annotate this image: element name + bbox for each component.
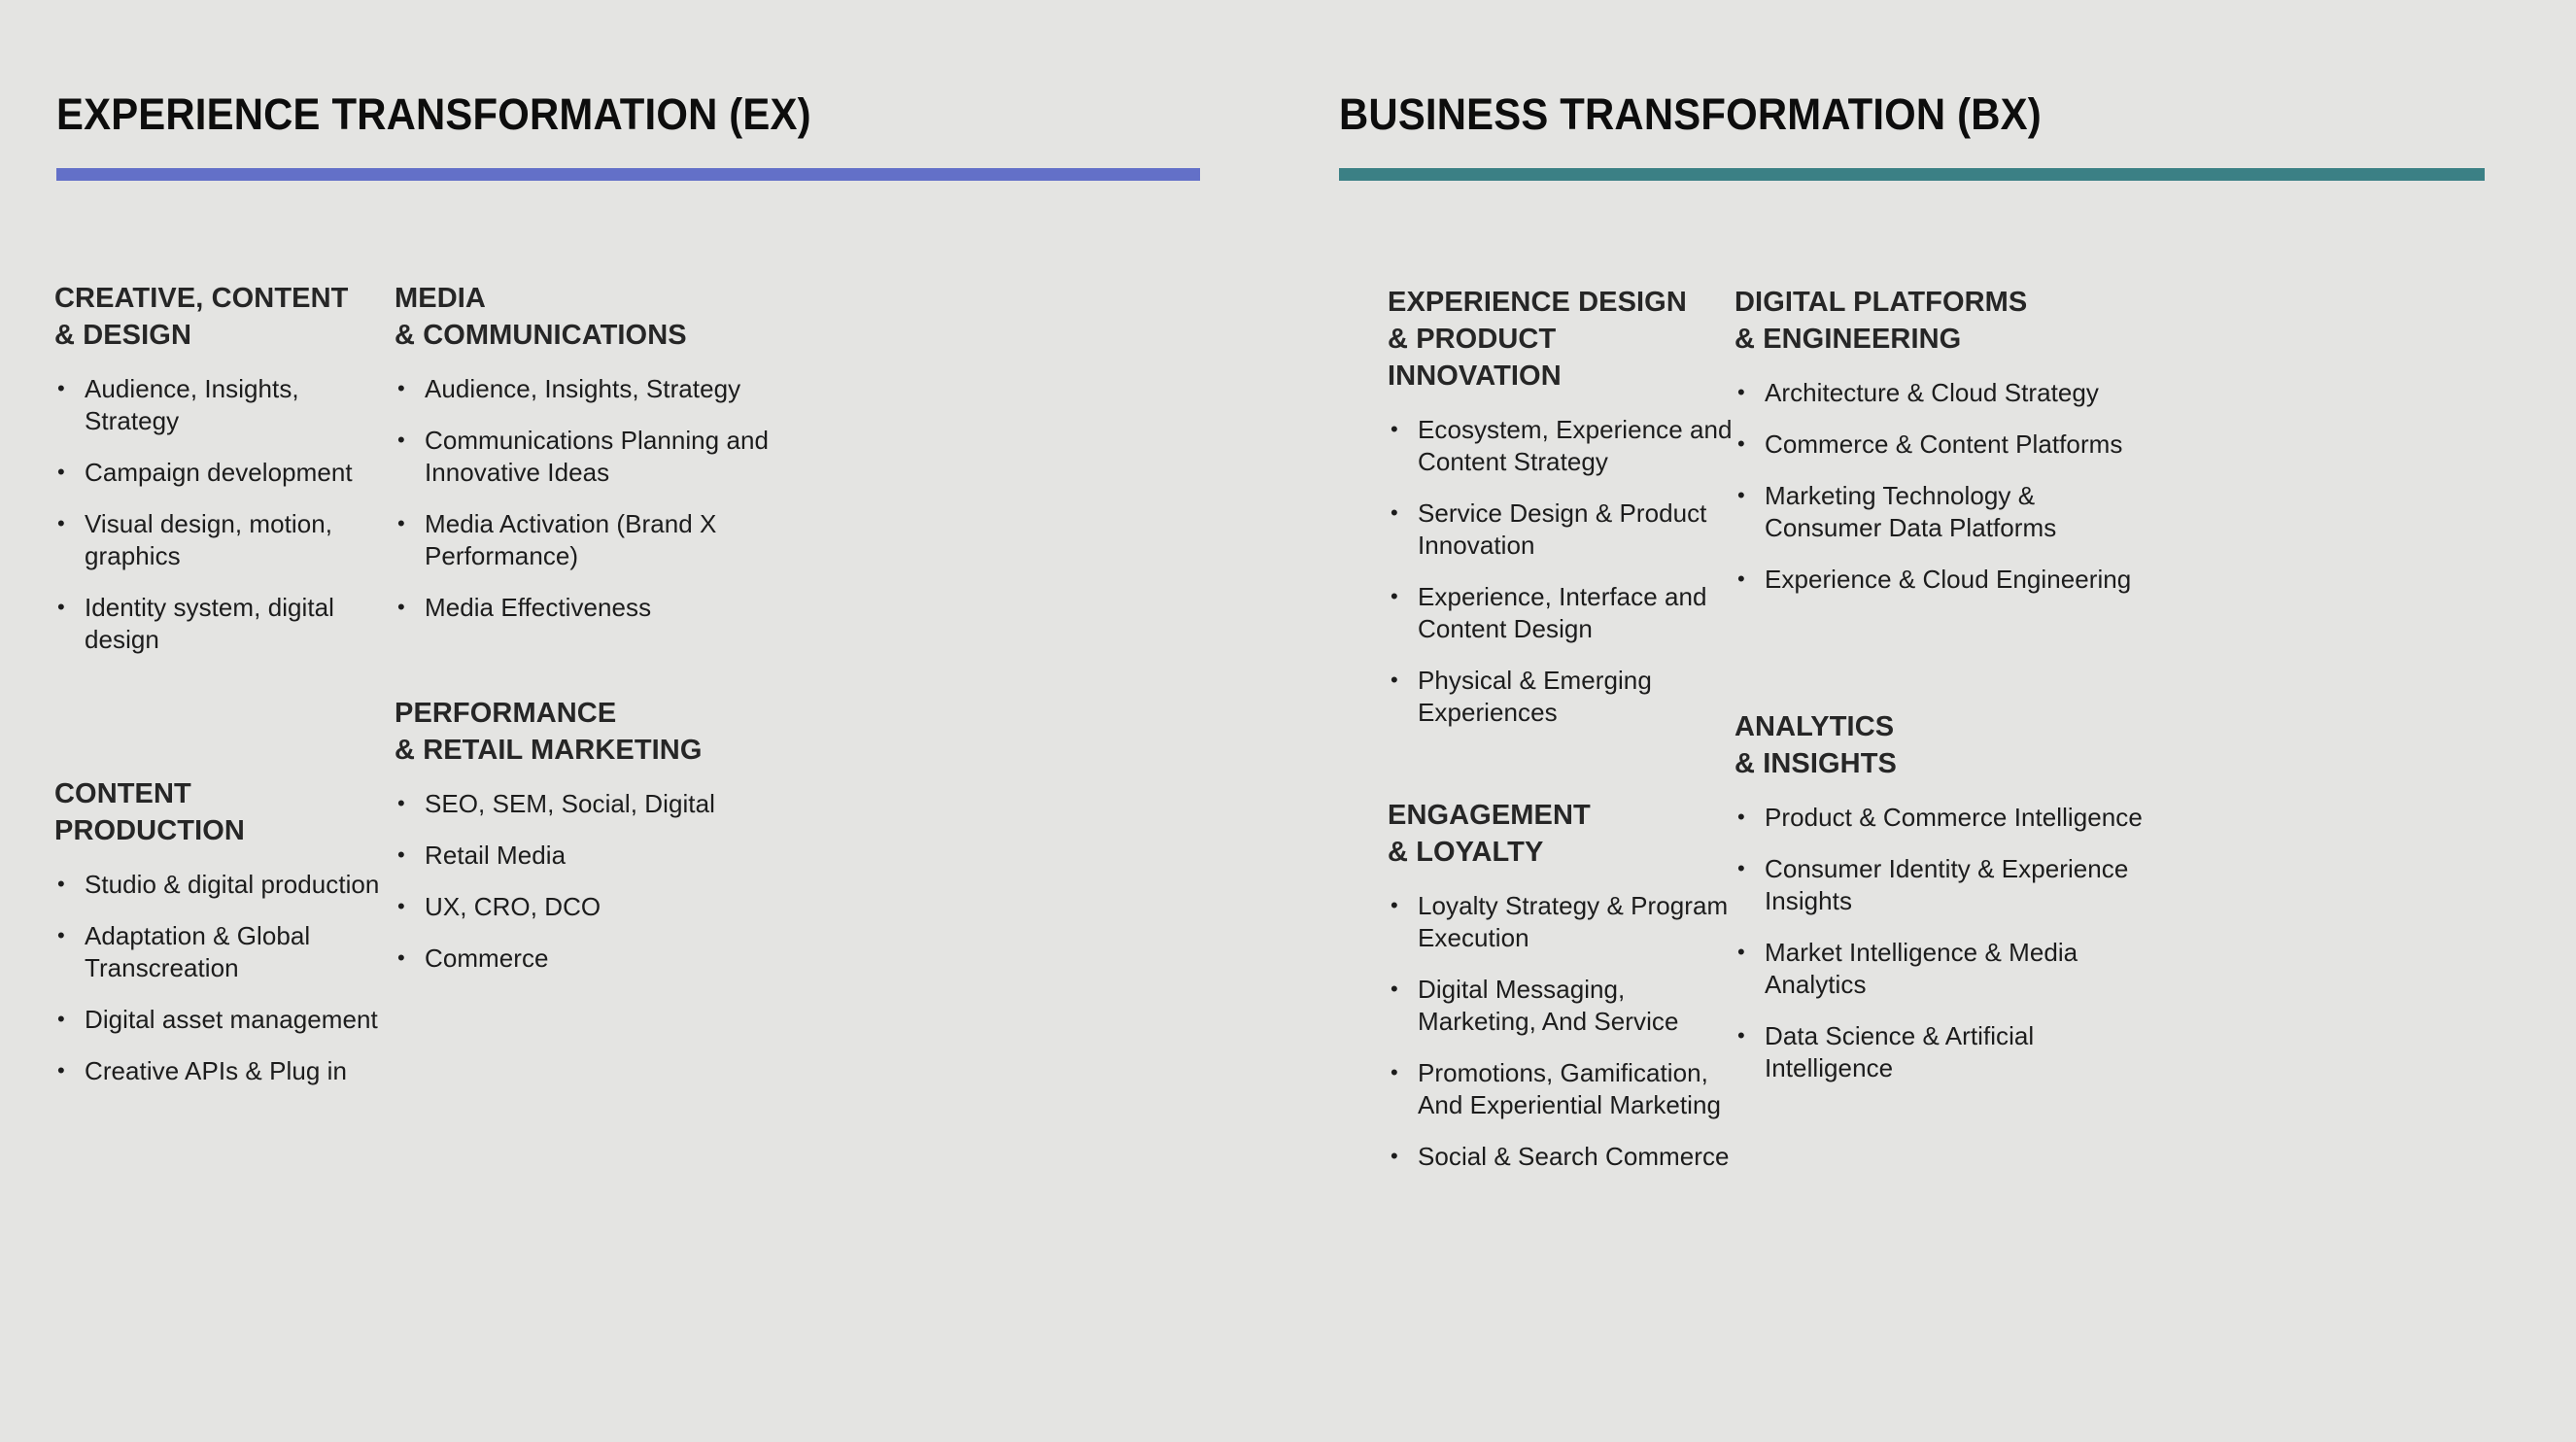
list-item: Architecture & Cloud Strategy [1735, 377, 2143, 409]
card-title-experience-design-product-innovation: EXPERIENCE DESIGN & PRODUCT INNOVATION [1388, 284, 1735, 395]
bullet-list-analytics-insights: Product & Commerce Intelligence Consumer… [1735, 802, 2143, 1084]
section-header-ex: EXPERIENCE TRANSFORMATION (EX) [56, 89, 1200, 181]
section-title-bx: BUSINESS TRANSFORMATION (BX) [1339, 89, 2404, 140]
list-item: Creative APIs & Plug in [54, 1055, 395, 1087]
list-item: Media Effectiveness [395, 592, 803, 624]
columns-bx: EXPERIENCE DESIGN & PRODUCT INNOVATION E… [1388, 284, 2486, 1192]
section-header-bx: BUSINESS TRANSFORMATION (BX) [1339, 89, 2485, 181]
list-item: Audience, Insights, Strategy [54, 373, 395, 437]
card-title-digital-platforms-engineering: DIGITAL PLATFORMS & ENGINEERING [1735, 284, 2143, 358]
list-item: Loyalty Strategy & Program Execution [1388, 890, 1735, 954]
bullet-list-experience-design-product-innovation: Ecosystem, Experience and Content Strate… [1388, 414, 1735, 729]
list-item: Experience & Cloud Engineering [1735, 564, 2143, 596]
list-item: Commerce [395, 943, 803, 975]
list-item: Studio & digital production [54, 869, 395, 901]
section-business-transformation: BUSINESS TRANSFORMATION (BX) EXPERIENCE … [1283, 0, 2576, 1442]
list-item: UX, CRO, DCO [395, 891, 803, 923]
accent-bar-ex [56, 168, 1200, 181]
list-item: SEO, SEM, Social, Digital [395, 788, 803, 820]
card-engagement-loyalty: ENGAGEMENT & LOYALTY Loyalty Strategy & … [1388, 797, 1735, 1173]
list-item: Digital Messaging, Marketing, And Servic… [1388, 974, 1735, 1038]
bullet-list-performance-retail-marketing: SEO, SEM, Social, Digital Retail Media U… [395, 788, 803, 975]
list-item: Audience, Insights, Strategy [395, 373, 803, 405]
spacer [54, 675, 395, 775]
card-media-communications: MEDIA & COMMUNICATIONS Audience, Insight… [395, 280, 803, 624]
column-ex-media: MEDIA & COMMUNICATIONS Audience, Insight… [395, 280, 803, 1107]
capability-matrix-canvas: EXPERIENCE TRANSFORMATION (EX) CREATIVE,… [0, 0, 2576, 1442]
column-ex-creative: CREATIVE, CONTENT & DESIGN Audience, Ins… [54, 280, 395, 1107]
section-title-ex: EXPERIENCE TRANSFORMATION (EX) [56, 89, 1120, 140]
bullet-list-creative-content-design: Audience, Insights, Strategy Campaign de… [54, 373, 395, 656]
list-item: Visual design, motion, graphics [54, 508, 395, 572]
list-item: Retail Media [395, 840, 803, 872]
list-item: Promotions, Gamification, And Experienti… [1388, 1057, 1735, 1121]
list-item: Service Design & Product Innovation [1388, 498, 1735, 562]
card-experience-design-product-innovation: EXPERIENCE DESIGN & PRODUCT INNOVATION E… [1388, 284, 1735, 729]
card-performance-retail-marketing: PERFORMANCE & RETAIL MARKETING SEO, SEM,… [395, 695, 803, 975]
card-title-media-communications: MEDIA & COMMUNICATIONS [395, 280, 803, 354]
column-bx-experience-design: EXPERIENCE DESIGN & PRODUCT INNOVATION E… [1388, 284, 1735, 1192]
list-item: Marketing Technology & Consumer Data Pla… [1735, 480, 2143, 544]
spacer [395, 643, 803, 695]
list-item: Identity system, digital design [54, 592, 395, 656]
list-item: Ecosystem, Experience and Content Strate… [1388, 414, 1735, 478]
columns-ex: CREATIVE, CONTENT & DESIGN Audience, Ins… [54, 280, 1201, 1107]
list-item: Digital asset management [54, 1004, 395, 1036]
spacer [1735, 615, 2143, 708]
card-digital-platforms-engineering: DIGITAL PLATFORMS & ENGINEERING Architec… [1735, 284, 2143, 596]
spacer [1388, 748, 1735, 797]
bullet-list-digital-platforms-engineering: Architecture & Cloud Strategy Commerce &… [1735, 377, 2143, 596]
column-bx-digital-platforms: DIGITAL PLATFORMS & ENGINEERING Architec… [1735, 284, 2143, 1192]
list-item: Social & Search Commerce [1388, 1141, 1735, 1173]
section-experience-transformation: EXPERIENCE TRANSFORMATION (EX) CREATIVE,… [0, 0, 1292, 1442]
card-title-engagement-loyalty: ENGAGEMENT & LOYALTY [1388, 797, 1735, 871]
accent-bar-bx [1339, 168, 2485, 181]
list-item: Product & Commerce Intelligence [1735, 802, 2143, 834]
card-title-content-production: CONTENT PRODUCTION [54, 775, 395, 849]
list-item: Media Activation (Brand X Performance) [395, 508, 803, 572]
card-title-performance-retail-marketing: PERFORMANCE & RETAIL MARKETING [395, 695, 803, 769]
list-item: Campaign development [54, 457, 395, 489]
list-item: Communications Planning and Innovative I… [395, 425, 803, 489]
list-item: Data Science & Artificial Intelligence [1735, 1020, 2143, 1084]
list-item: Physical & Emerging Experiences [1388, 665, 1735, 729]
bullet-list-engagement-loyalty: Loyalty Strategy & Program Execution Dig… [1388, 890, 1735, 1173]
card-content-production: CONTENT PRODUCTION Studio & digital prod… [54, 775, 395, 1087]
list-item: Adaptation & Global Transcreation [54, 920, 395, 984]
card-title-analytics-insights: ANALYTICS & INSIGHTS [1735, 708, 2143, 782]
list-item: Experience, Interface and Content Design [1388, 581, 1735, 645]
list-item: Consumer Identity & Experience Insights [1735, 853, 2143, 917]
bullet-list-content-production: Studio & digital production Adaptation &… [54, 869, 395, 1087]
card-analytics-insights: ANALYTICS & INSIGHTS Product & Commerce … [1735, 708, 2143, 1084]
bullet-list-media-communications: Audience, Insights, Strategy Communicati… [395, 373, 803, 624]
list-item: Market Intelligence & Media Analytics [1735, 937, 2143, 1001]
card-creative-content-design: CREATIVE, CONTENT & DESIGN Audience, Ins… [54, 280, 395, 656]
card-title-creative-content-design: CREATIVE, CONTENT & DESIGN [54, 280, 395, 354]
list-item: Commerce & Content Platforms [1735, 429, 2143, 461]
